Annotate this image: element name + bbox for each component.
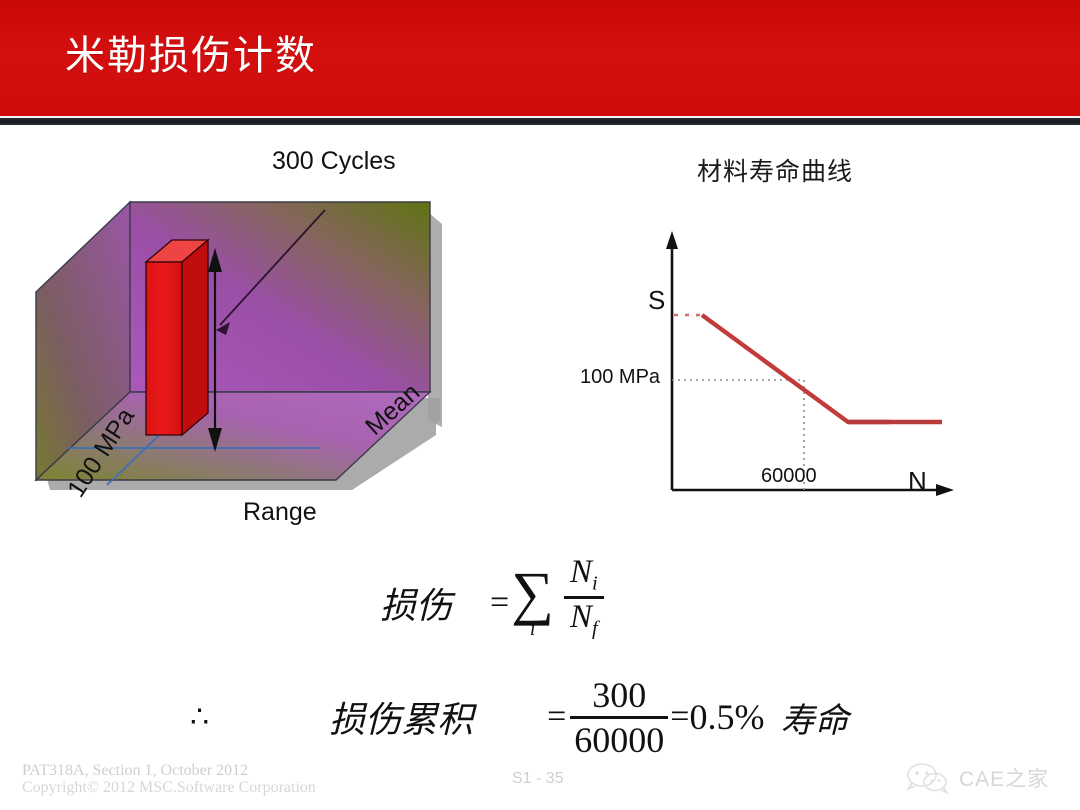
watermark: CAE之家: [905, 762, 1049, 794]
fraction-denominator: Nf: [564, 599, 604, 641]
accumulation-numerator: 300: [588, 674, 650, 716]
formula-accumulation-equals: =: [547, 698, 566, 736]
watermark-text: CAE之家: [959, 763, 1049, 793]
sn-y-tick-label: 100 MPa: [580, 366, 660, 389]
sn-chart-title: 材料寿命曲线: [697, 152, 853, 188]
y-axis-arrowhead: [666, 231, 678, 249]
banner-dark-divider: [0, 118, 1080, 125]
sn-y-axis-label: S: [648, 285, 665, 316]
range-axis-label: Range: [243, 498, 317, 527]
fraction-numerator: Ni: [564, 554, 604, 596]
sn-x-tick-label: 60000: [761, 465, 817, 488]
footer-page-number: S1 - 35: [512, 770, 564, 788]
formula-accumulation-lhs: 损伤累积: [329, 691, 473, 743]
accumulation-denominator: 60000: [570, 719, 668, 761]
accumulation-fraction: 300 60000: [570, 674, 668, 761]
summation-group: ∑ i: [511, 566, 554, 641]
accumulation-equals-2: =: [670, 698, 689, 736]
formula-damage: 损伤 = ∑ i Ni Nf: [380, 560, 604, 646]
wechat-icon: [905, 762, 951, 794]
damage-fraction: Ni Nf: [564, 554, 604, 640]
therefore-symbol: ∴: [190, 700, 209, 735]
cycles-annotation: 300 Cycles: [272, 147, 396, 176]
slide-canvas: 米勒损伤计数: [0, 0, 1080, 810]
formula-damage-lhs: 损伤: [380, 577, 452, 629]
sigma-symbol: ∑: [511, 566, 554, 620]
sigma-index: i: [530, 618, 536, 641]
x-axis-arrowhead: [936, 484, 954, 496]
histogram-bar-side: [182, 240, 208, 435]
histogram-bar-front: [146, 262, 182, 435]
formula-damage-equals: =: [490, 584, 509, 622]
formula-accumulation: ∴ 损伤累积 = 300 60000 = 0.5% 寿命: [190, 672, 848, 762]
page-title: 米勒损伤计数: [65, 28, 317, 84]
sn-x-axis-label: N: [908, 466, 927, 497]
accumulation-result: 0.5%: [689, 696, 764, 738]
footer-copyright: Copyright© 2012 MSC.Software Corporation: [22, 777, 352, 798]
accumulation-result-unit: 寿命: [780, 693, 848, 742]
sn-curve-path: [702, 315, 890, 422]
